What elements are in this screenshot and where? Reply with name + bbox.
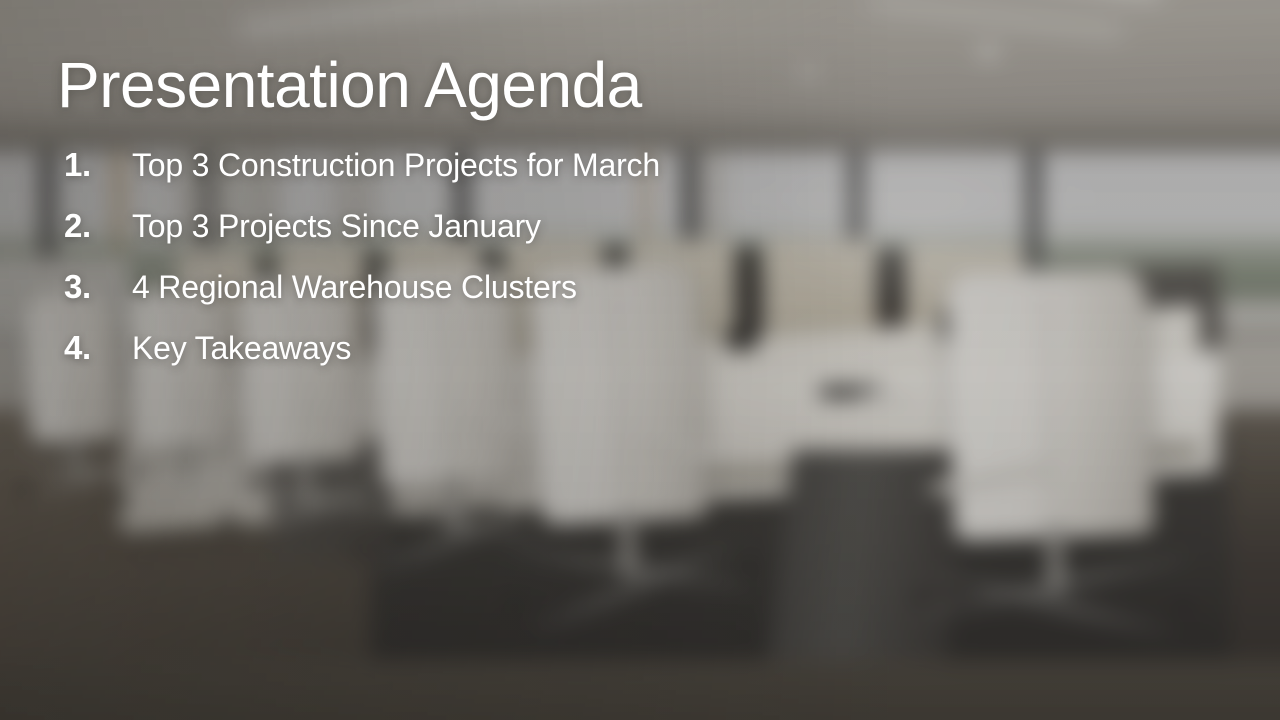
agenda-item-4[interactable]: 4. Key Takeaways xyxy=(64,329,824,390)
agenda-item-3[interactable]: 3. 4 Regional Warehouse Clusters xyxy=(64,268,824,329)
slide-title: Presentation Agenda xyxy=(57,52,642,119)
agenda-item-number: 2. xyxy=(64,207,132,245)
presentation-slide: Presentation Agenda 1. Top 3 Constructio… xyxy=(0,0,1280,720)
agenda-item-2[interactable]: 2. Top 3 Projects Since January xyxy=(64,207,824,268)
agenda-item-label: 4 Regional Warehouse Clusters xyxy=(132,269,577,306)
agenda-item-number: 4. xyxy=(64,329,132,367)
agenda-list: 1. Top 3 Construction Projects for March… xyxy=(64,146,824,390)
agenda-item-label: Key Takeaways xyxy=(132,330,351,367)
agenda-item-number: 1. xyxy=(64,146,132,184)
slide-content: Presentation Agenda 1. Top 3 Constructio… xyxy=(0,0,1280,720)
agenda-item-label: Top 3 Projects Since January xyxy=(132,208,541,245)
agenda-item-label: Top 3 Construction Projects for March xyxy=(132,147,660,184)
agenda-item-number: 3. xyxy=(64,268,132,306)
agenda-item-1[interactable]: 1. Top 3 Construction Projects for March xyxy=(64,146,824,207)
